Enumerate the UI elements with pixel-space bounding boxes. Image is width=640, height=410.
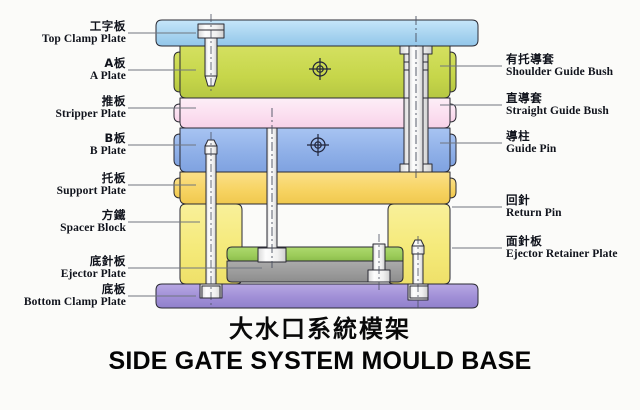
label-ejector-retainer-plate-en: Ejector Retainer Plate — [506, 248, 618, 261]
label-return-pin-en: Return Pin — [506, 207, 562, 220]
title-block: 大水口系統模架 SIDE GATE SYSTEM MOULD BASE — [0, 314, 640, 376]
label-bottom-clamp-plate-cn: 底板 — [0, 283, 126, 296]
label-top-clamp-plate-en: Top Clamp Plate — [0, 33, 126, 46]
label-stripper-plate-en: Stripper Plate — [0, 108, 126, 121]
label-straight-guide-bush-en: Straight Guide Bush — [506, 105, 609, 118]
label-spacer-block-cn: 方鐵 — [0, 209, 126, 222]
label-return-pin: 回針 Return Pin — [506, 194, 562, 220]
label-spacer-block-en: Spacer Block — [0, 222, 126, 235]
label-straight-guide-bush-cn: 直導套 — [506, 92, 609, 105]
label-shoulder-guide-bush-cn: 有托導套 — [506, 53, 613, 66]
label-stripper-plate: 推板 Stripper Plate — [0, 95, 126, 121]
label-support-plate: 托板 Support Plate — [0, 172, 126, 198]
label-ejector-retainer-plate-cn: 面針板 — [506, 235, 618, 248]
label-shoulder-guide-bush-en: Shoulder Guide Bush — [506, 66, 613, 79]
label-support-plate-en: Support Plate — [0, 185, 126, 198]
label-spacer-block: 方鐵 Spacer Block — [0, 209, 126, 235]
diagram-canvas: 工字板 Top Clamp Plate A板 A Plate 推板 Stripp… — [0, 0, 640, 410]
label-return-pin-cn: 回針 — [506, 194, 562, 207]
label-b-plate: B板 B Plate — [0, 132, 126, 158]
label-support-plate-cn: 托板 — [0, 172, 126, 185]
label-ejector-retainer-plate: 面針板 Ejector Retainer Plate — [506, 235, 618, 261]
label-guide-pin-cn: 導柱 — [506, 130, 556, 143]
label-ejector-plate: 底針板 Ejector Plate — [0, 255, 126, 281]
label-bottom-clamp-plate: 底板 Bottom Clamp Plate — [0, 283, 126, 309]
label-a-plate-en: A Plate — [0, 70, 126, 83]
label-bottom-clamp-plate-en: Bottom Clamp Plate — [0, 296, 126, 309]
support-plate — [180, 172, 450, 204]
label-a-plate: A板 A Plate — [0, 57, 126, 83]
label-top-clamp-plate: 工字板 Top Clamp Plate — [0, 20, 126, 46]
label-ejector-plate-en: Ejector Plate — [0, 268, 126, 281]
label-b-plate-en: B Plate — [0, 145, 126, 158]
label-shoulder-guide-bush: 有托導套 Shoulder Guide Bush — [506, 53, 613, 79]
label-b-plate-cn: B板 — [0, 132, 126, 145]
label-straight-guide-bush: 直導套 Straight Guide Bush — [506, 92, 609, 118]
label-guide-pin-en: Guide Pin — [506, 143, 556, 156]
label-ejector-plate-cn: 底針板 — [0, 255, 126, 268]
label-guide-pin: 導柱 Guide Pin — [506, 130, 556, 156]
title-chinese: 大水口系統模架 — [0, 314, 640, 344]
title-english: SIDE GATE SYSTEM MOULD BASE — [0, 346, 640, 376]
label-a-plate-cn: A板 — [0, 57, 126, 70]
label-stripper-plate-cn: 推板 — [0, 95, 126, 108]
label-top-clamp-plate-cn: 工字板 — [0, 20, 126, 33]
